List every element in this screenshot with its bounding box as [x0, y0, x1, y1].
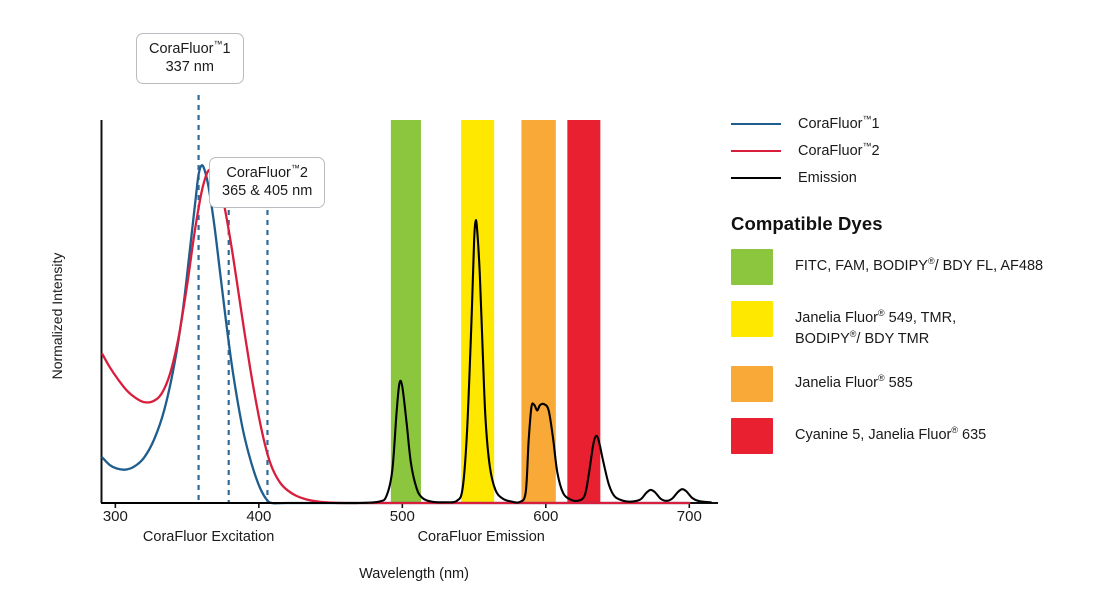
- dye-label: Janelia Fluor® 549, TMR,BODIPY®/ BDY TMR: [795, 301, 956, 350]
- legend-line-swatch: [731, 123, 781, 125]
- annotation-corafluor2-line1: CoraFluor™2: [222, 164, 312, 182]
- emission-region-label: CoraFluor Emission: [391, 529, 571, 545]
- legend-panel: CoraFluor™1CoraFluor™2Emission Compatibl…: [731, 110, 1101, 470]
- x-tick-label: 700: [659, 508, 719, 525]
- x-tick-label: 500: [372, 508, 432, 525]
- dye-row: FITC, FAM, BODIPY®/ BDY FL, AF488: [731, 249, 1101, 285]
- compatible-dyes-title: Compatible Dyes: [731, 213, 1101, 235]
- dye-label: Janelia Fluor® 585: [795, 366, 913, 394]
- y-axis-title: Normalized Intensity: [49, 221, 65, 411]
- orange-band: [521, 120, 555, 503]
- dye-row: Janelia Fluor® 549, TMR,BODIPY®/ BDY TMR: [731, 301, 1101, 350]
- legend-series-label: CoraFluor™1: [798, 116, 880, 132]
- legend-series-row: Emission: [731, 164, 1101, 191]
- annotation-corafluor2: CoraFluor™2 365 & 405 nm: [209, 157, 325, 208]
- legend-series-row: CoraFluor™1: [731, 110, 1101, 137]
- dye-row: Cyanine 5, Janelia Fluor® 635: [731, 418, 1101, 454]
- excitation-region-label: CoraFluor Excitation: [119, 529, 299, 545]
- x-tick-label: 300: [85, 508, 145, 525]
- legend-line-swatch: [731, 177, 781, 179]
- dye-color-swatch: [731, 249, 773, 285]
- dye-row: Janelia Fluor® 585: [731, 366, 1101, 402]
- dye-label: FITC, FAM, BODIPY®/ BDY FL, AF488: [795, 249, 1043, 277]
- x-tick-label: 400: [229, 508, 289, 525]
- annotation-corafluor2-line2: 365 & 405 nm: [222, 182, 312, 200]
- dye-color-swatch: [731, 366, 773, 402]
- series-legend: CoraFluor™1CoraFluor™2Emission: [731, 110, 1101, 191]
- x-tick-label: 600: [516, 508, 576, 525]
- dye-color-swatch: [731, 418, 773, 454]
- annotation-corafluor1: CoraFluor™1 337 nm: [136, 33, 244, 84]
- dye-color-swatch: [731, 301, 773, 337]
- legend-series-label: Emission: [798, 170, 857, 186]
- red-band: [567, 120, 600, 503]
- dye-label: Cyanine 5, Janelia Fluor® 635: [795, 418, 986, 446]
- legend-series-label: CoraFluor™2: [798, 143, 880, 159]
- x-axis-title: Wavelength (nm): [0, 566, 828, 582]
- annotation-corafluor1-line2: 337 nm: [149, 58, 231, 76]
- annotation-corafluor1-line1: CoraFluor™1: [149, 40, 231, 58]
- legend-line-swatch: [731, 150, 781, 152]
- compatible-dyes-list: FITC, FAM, BODIPY®/ BDY FL, AF488Janelia…: [731, 249, 1101, 454]
- figure-root: CoraFluor™1 337 nm CoraFluor™2 365 & 405…: [0, 0, 1110, 612]
- legend-series-row: CoraFluor™2: [731, 137, 1101, 164]
- compatible-dye-bands: [391, 120, 600, 503]
